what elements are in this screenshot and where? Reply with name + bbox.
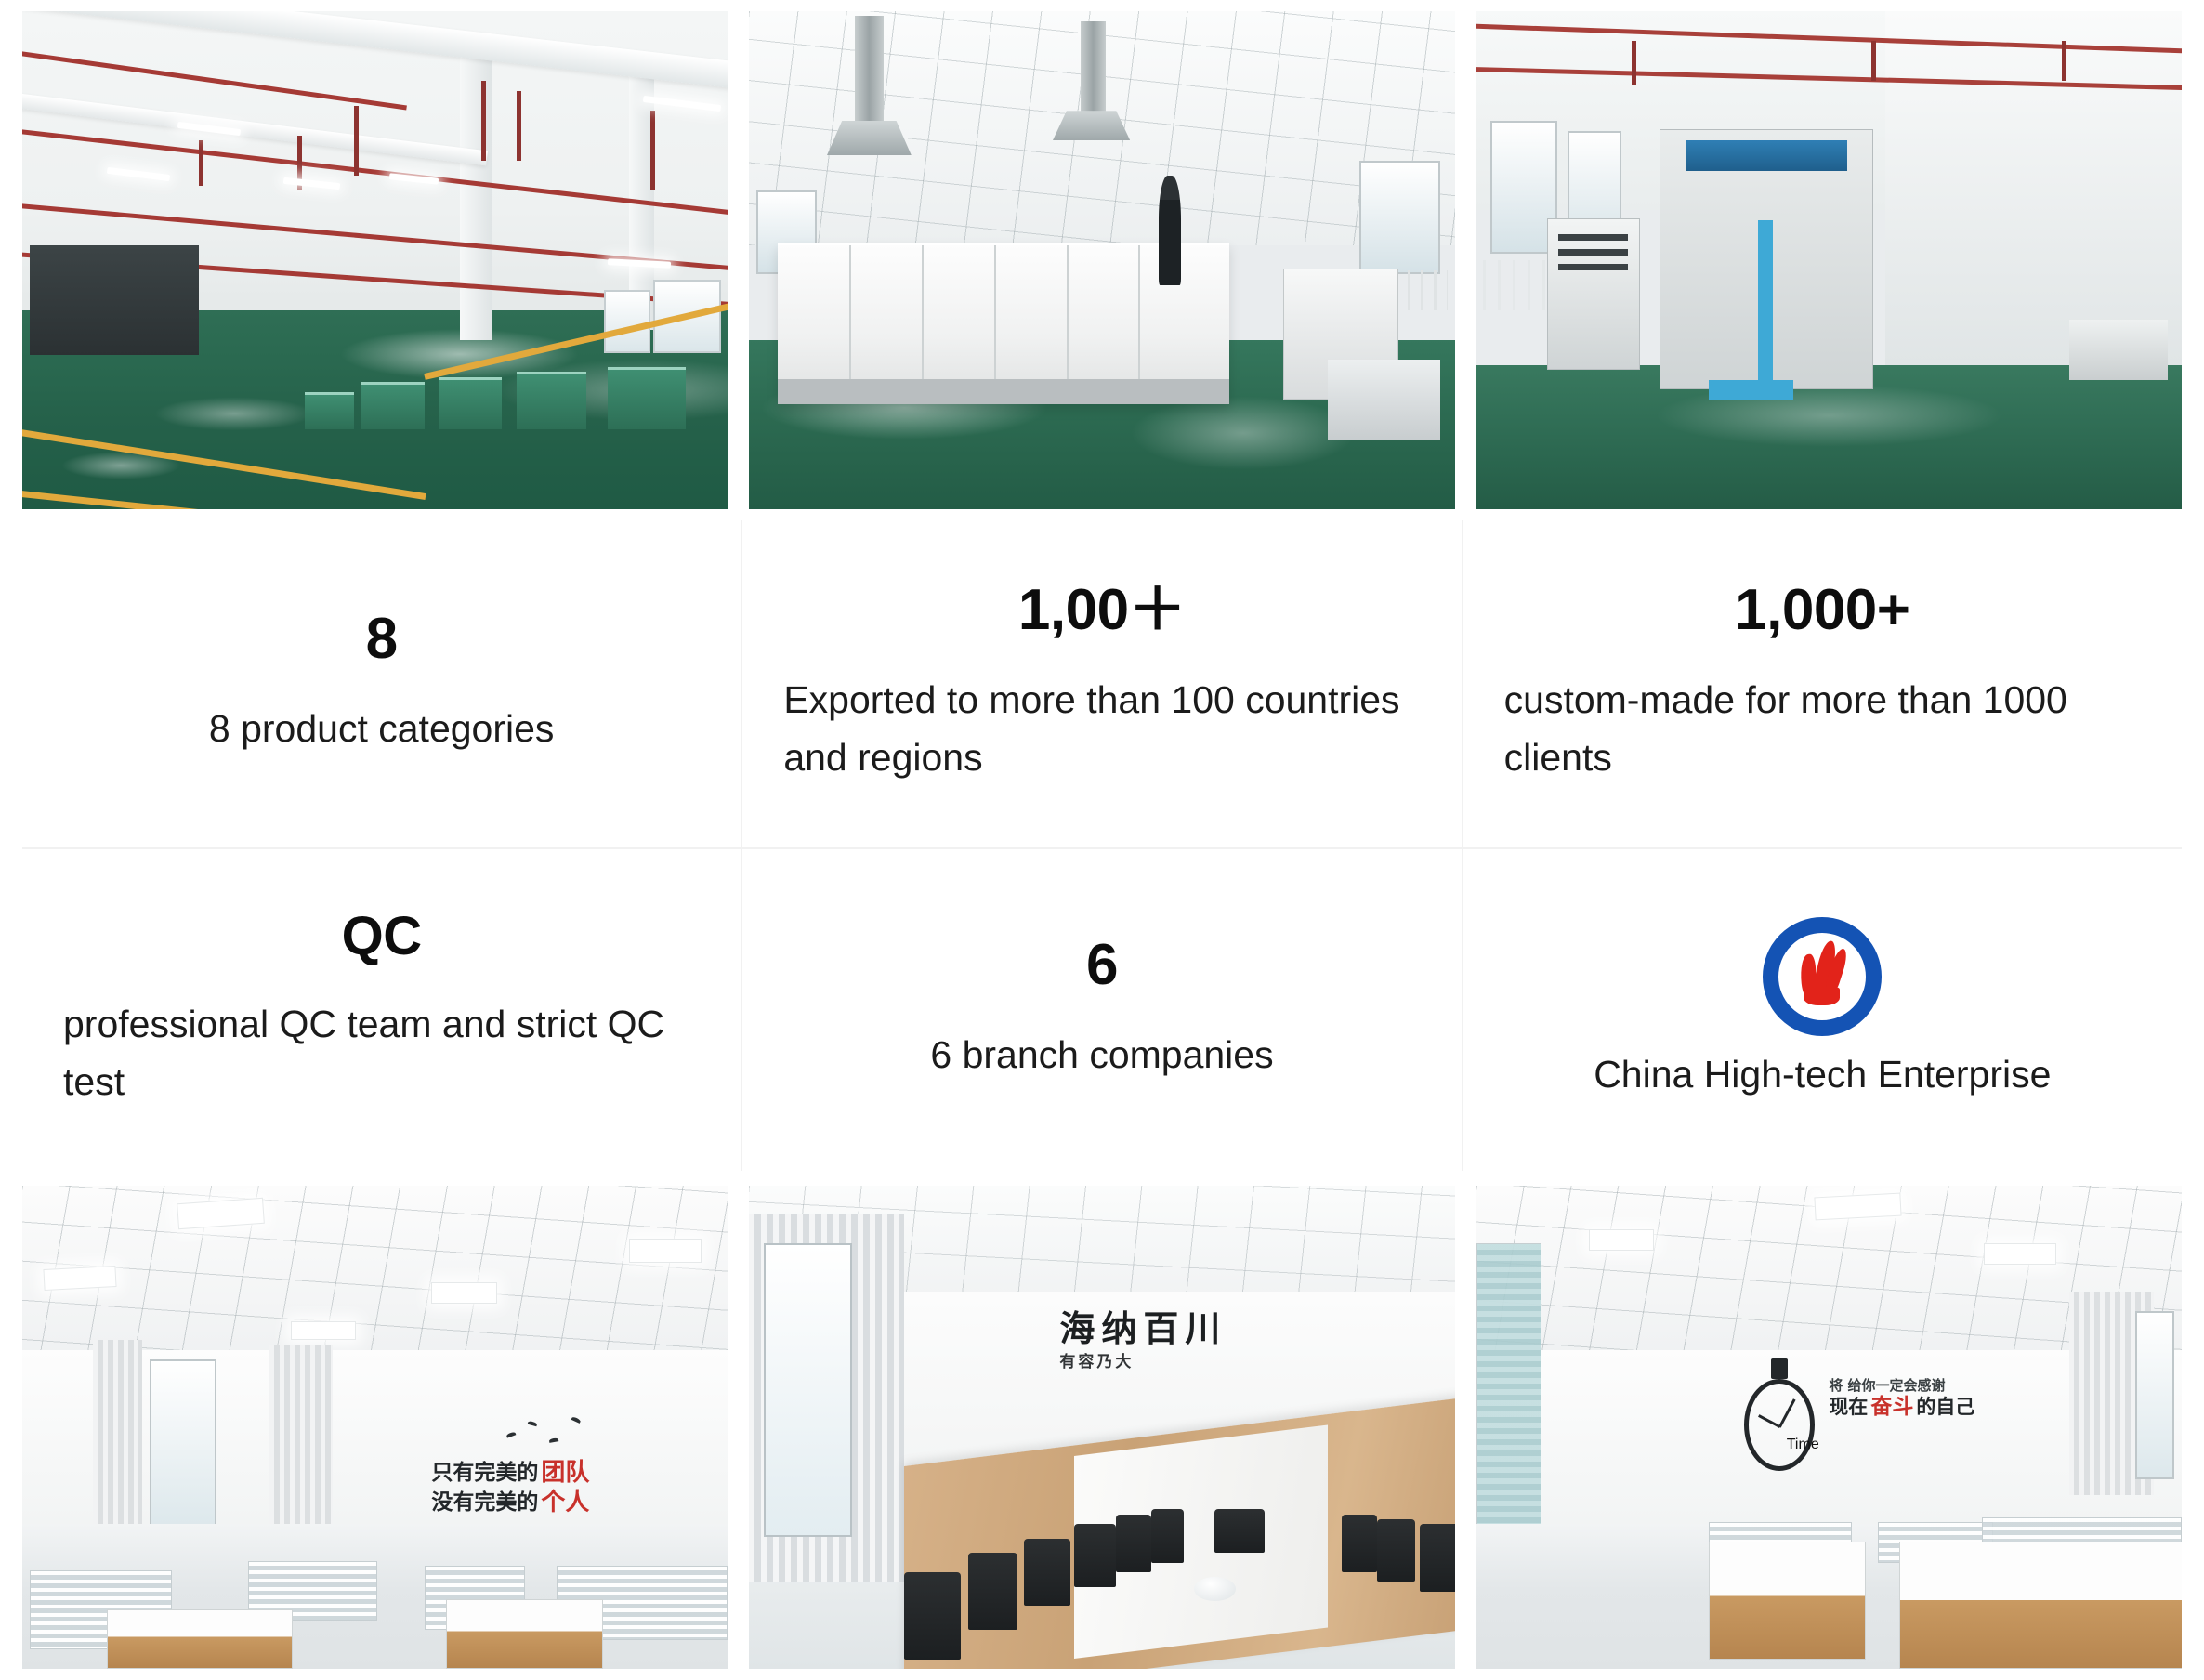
dark-equipment-bay: [30, 245, 199, 355]
control-panel-cabinet: [1547, 218, 1641, 370]
conference-chair: [904, 1572, 961, 1660]
glass-partition-door: [1476, 1243, 1541, 1555]
decal-time-line2-tail: 的自己: [1916, 1398, 1974, 1417]
stat-caption: Exported to more than 100 countries and …: [783, 671, 1420, 787]
company-capability-page: 8 8 product categories 1,00＋ Exported to…: [0, 0, 2204, 1680]
office-desk: [446, 1599, 603, 1669]
work-table: [1328, 360, 1440, 440]
operator-person: [1159, 176, 1181, 285]
bird-silhouette-icon: [502, 1418, 600, 1457]
ceiling-light: [1589, 1229, 1654, 1251]
decal-time-red: 奋斗: [1870, 1397, 1913, 1418]
exhaust-duct: [855, 16, 883, 125]
stat-caption: 6 branch companies: [783, 1026, 1420, 1083]
stat-caption: China High-tech Enterprise: [1504, 1045, 2141, 1103]
office-window: [150, 1359, 216, 1528]
ceiling-light: [629, 1239, 702, 1262]
pipe-hanger: [650, 111, 655, 190]
stats-row-2: QC professional QC team and strict QC te…: [22, 849, 2182, 1171]
pipe-hanger: [481, 81, 486, 161]
pipe-hanger: [1871, 41, 1876, 81]
decal-team-line1: 只有完美的: [431, 1463, 538, 1484]
office-cubicle: [1709, 1542, 1866, 1660]
exhaust-duct: [1081, 21, 1106, 121]
photo-tunnel-furnace-line[interactable]: [749, 11, 1454, 509]
top-photo-row: [0, 11, 2204, 509]
conference-chair: [1151, 1509, 1184, 1562]
machine-base: [1709, 380, 1793, 400]
conference-chair: [1116, 1515, 1151, 1572]
team-slogan-decal: 只有完美的 团队 没有完美的 个人: [431, 1461, 589, 1515]
photo-staff-office-area[interactable]: Time 将 给你一定会感谢 现在 奋斗 的自己: [1476, 1186, 2182, 1669]
pipe-hanger: [354, 106, 359, 176]
production-machine: [608, 367, 686, 429]
decal-time-line2: 现在: [1829, 1398, 1868, 1417]
pipe-hanger: [2062, 41, 2066, 81]
stat-product-categories[interactable]: 8 8 product categories: [22, 520, 741, 847]
production-machine: [305, 392, 354, 430]
decal-team-line1-red: 团队: [541, 1461, 589, 1485]
china-high-tech-enterprise-logo-icon: [1763, 917, 1882, 1036]
production-machine: [439, 377, 502, 430]
stat-value: 8: [366, 610, 398, 668]
conference-chair: [1024, 1539, 1069, 1607]
ceiling-light: [1984, 1243, 2056, 1265]
stats-grid: 8 8 product categories 1,00＋ Exported to…: [22, 520, 2182, 1171]
window-curtain: [93, 1340, 142, 1542]
ceiling-light: [291, 1321, 356, 1340]
photo-conference-room[interactable]: 海纳百川 有容乃大: [749, 1186, 1454, 1669]
photo-coating-machine-bay[interactable]: [1476, 11, 2182, 509]
pipe-hanger: [517, 91, 521, 161]
bottom-photo-row: 只有完美的 团队 没有完美的 个人: [0, 1186, 2204, 1669]
ceiling-light: [431, 1282, 496, 1304]
stat-caption: 8 product categories: [63, 700, 700, 757]
stat-caption: custom-made for more than 1000 clients: [1504, 671, 2141, 787]
ceiling-light: [43, 1266, 116, 1291]
stat-caption: professional QC team and strict QC test: [63, 995, 700, 1111]
ceiling-light: [177, 1197, 265, 1228]
hall-window: [604, 290, 650, 353]
calligraphy-main: 海纳百川: [1059, 1311, 1227, 1346]
machine-cylinder: [1758, 220, 1772, 389]
decal-time-line1: 将 给你一定会感谢: [1829, 1379, 1945, 1393]
photo-open-plan-office[interactable]: 只有完美的 团队 没有完美的 个人: [22, 1186, 728, 1669]
production-machine: [517, 372, 587, 429]
structural-column: [460, 41, 492, 340]
conference-chair: [1342, 1515, 1377, 1572]
office-desk: [107, 1609, 292, 1669]
stat-value: 1,000+: [1504, 582, 2141, 639]
hall-window: [1359, 161, 1441, 274]
decal-team-line2: 没有完美的: [431, 1492, 538, 1514]
stat-qc-team[interactable]: QC professional QC team and strict QC te…: [22, 849, 741, 1171]
conference-chair: [1074, 1524, 1117, 1587]
stats-row-1: 8 8 product categories 1,00＋ Exported to…: [22, 520, 2182, 849]
office-cubicle: [1899, 1542, 2182, 1669]
stat-custom-clients[interactable]: 1,000+ custom-made for more than 1000 cl…: [1462, 520, 2182, 847]
calligraphy-wall-art: 海纳百川 有容乃大: [1059, 1311, 1227, 1371]
conference-chair: [1420, 1524, 1455, 1592]
stat-value: 6: [1086, 937, 1118, 994]
work-table: [2069, 320, 2168, 379]
production-machine: [361, 382, 424, 429]
stat-value: QC: [63, 910, 700, 964]
stat-value: 1,00＋: [783, 582, 1420, 639]
conference-chair-head: [1214, 1509, 1264, 1553]
window-curtain: [269, 1345, 333, 1539]
conference-window: [764, 1243, 852, 1537]
time-slogan-decal: 将 给你一定会感谢 现在 奋斗 的自己: [1829, 1379, 1974, 1418]
conference-chair: [968, 1553, 1017, 1630]
pipe-hanger: [1632, 41, 1636, 85]
stat-branch-companies[interactable]: 6 6 branch companies: [741, 849, 1461, 1171]
time-word-label: Time: [1787, 1437, 1819, 1453]
calligraphy-sub: 有容乃大: [1059, 1355, 1227, 1371]
photo-factory-production-hall[interactable]: [22, 11, 728, 509]
decal-team-line2-red: 个人: [541, 1490, 589, 1515]
stat-export-countries[interactable]: 1,00＋ Exported to more than 100 countrie…: [741, 520, 1461, 847]
office-window: [2135, 1311, 2174, 1479]
conference-chair: [1377, 1519, 1415, 1582]
stopwatch-icon: [1744, 1379, 1815, 1471]
ceiling-light: [1815, 1193, 1902, 1221]
pipe-hanger: [199, 140, 203, 185]
stat-high-tech-enterprise[interactable]: China High-tech Enterprise: [1462, 849, 2182, 1171]
